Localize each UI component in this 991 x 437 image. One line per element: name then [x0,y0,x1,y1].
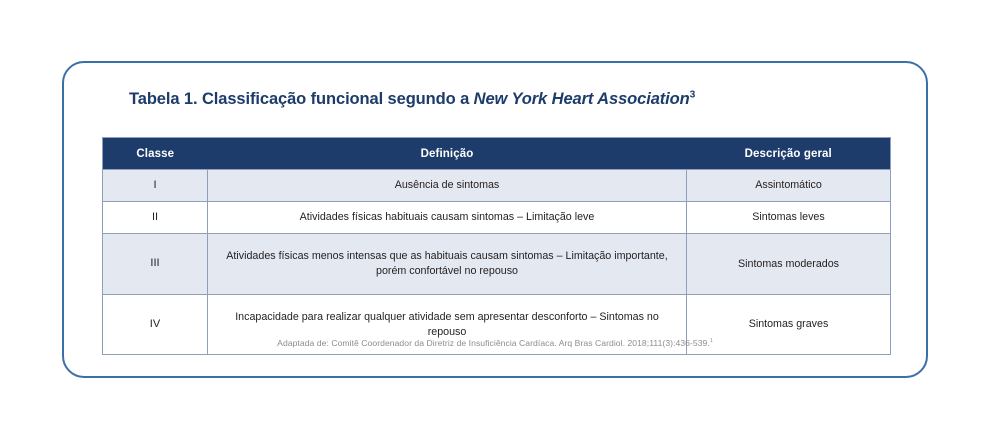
source-note: Adaptada de: Comitê Coordenador da Diret… [64,338,926,348]
nyha-table-wrapper: Classe Definição Descrição geral I Ausên… [102,137,890,355]
cell-descricao: Sintomas moderados [687,234,891,295]
page-title-emphasis: New York Heart Association [474,90,690,108]
cell-definicao: Atividades físicas habituais causam sint… [208,202,687,234]
cell-classe: I [103,170,208,202]
page-title-superscript: 3 [690,90,696,101]
column-header-descricao: Descrição geral [687,138,891,170]
page-title: Tabela 1. Classificação funcional segund… [129,90,869,109]
cell-descricao: Assintomático [687,170,891,202]
cell-classe: III [103,234,208,295]
page-title-prefix: Tabela 1. Classificação funcional segund… [129,90,474,108]
cell-definicao: Atividades físicas menos intensas que as… [208,234,687,295]
cell-definicao: Ausência de sintomas [208,170,687,202]
page-root: Tabela 1. Classificação funcional segund… [0,0,991,437]
table-header: Classe Definição Descrição geral [103,138,891,170]
table-header-row: Classe Definição Descrição geral [103,138,891,170]
source-note-text: Adaptada de: Comitê Coordenador da Diret… [277,338,710,348]
cell-classe: II [103,202,208,234]
column-header-definicao: Definição [208,138,687,170]
column-header-classe: Classe [103,138,208,170]
table-row: I Ausência de sintomas Assintomático [103,170,891,202]
nyha-classification-table: Classe Definição Descrição geral I Ausên… [102,137,891,355]
table-body: I Ausência de sintomas Assintomático II … [103,170,891,355]
source-note-superscript: 1 [710,338,713,344]
cell-descricao: Sintomas leves [687,202,891,234]
table-card: Tabela 1. Classificação funcional segund… [62,61,928,378]
table-row: II Atividades físicas habituais causam s… [103,202,891,234]
table-row: III Atividades físicas menos intensas qu… [103,234,891,295]
